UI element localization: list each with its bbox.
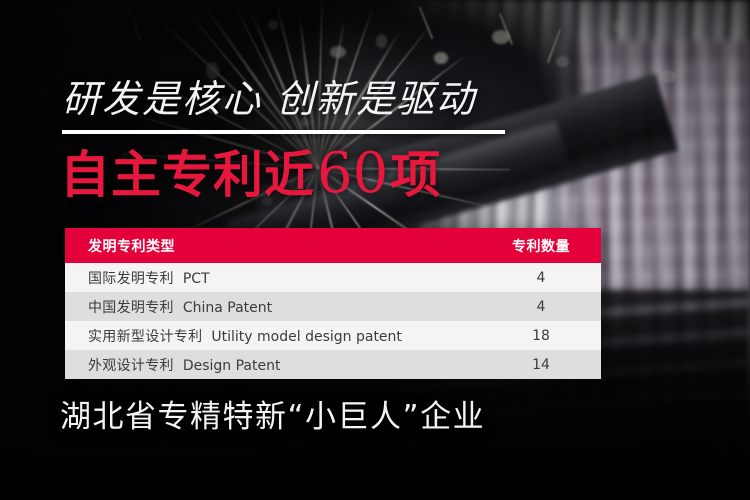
subheadline-prefix: 自主专利近: [60, 146, 315, 204]
table-row: 国际发明专利PCT 4: [65, 263, 601, 292]
cell-patent-count: 14: [481, 357, 601, 373]
cell-patent-type: 中国发明专利China Patent: [65, 297, 481, 317]
patent-table: 发明专利类型 专利数量 国际发明专利PCT 4 中国发明专利China Pate…: [65, 228, 601, 379]
column-header-count: 专利数量: [481, 236, 601, 256]
subheadline-number: 60: [315, 141, 390, 206]
cell-type-cn: 国际发明专利: [88, 271, 174, 287]
promotional-banner: 研发是核心 创新是驱动 自主专利近60项 发明专利类型 专利数量 国际发明专利P…: [0, 0, 750, 500]
cell-type-en: China Patent: [174, 300, 272, 316]
cell-patent-count: 18: [481, 328, 601, 344]
headline-divider: [62, 130, 505, 134]
cell-patent-type: 国际发明专利PCT: [65, 268, 481, 288]
cell-type-cn: 外观设计专利: [88, 358, 174, 374]
table-row: 实用新型设计专利Utility model design patent 18: [65, 321, 601, 350]
cell-type-cn: 实用新型设计专利: [88, 329, 202, 345]
banner-content: 研发是核心 创新是驱动 自主专利近60项 发明专利类型 专利数量 国际发明专利P…: [0, 0, 750, 500]
headline-text: 研发是核心 创新是驱动: [62, 80, 476, 118]
subheadline-suffix: 项: [390, 146, 441, 204]
subheadline-text: 自主专利近60项: [60, 145, 441, 204]
cell-patent-type: 实用新型设计专利Utility model design patent: [65, 326, 481, 346]
cell-patent-count: 4: [481, 270, 601, 286]
column-header-type: 发明专利类型: [65, 236, 481, 256]
table-row: 外观设计专利Design Patent 14: [65, 350, 601, 379]
cell-type-en: PCT: [174, 271, 210, 287]
table-header-row: 发明专利类型 专利数量: [65, 228, 601, 263]
cell-type-en: Utility model design patent: [202, 329, 402, 345]
cell-patent-count: 4: [481, 299, 601, 315]
cell-type-en: Design Patent: [174, 358, 281, 374]
footer-text: 湖北省专精特新“小巨人”企业: [60, 402, 485, 433]
cell-type-cn: 中国发明专利: [88, 300, 174, 316]
table-row: 中国发明专利China Patent 4: [65, 292, 601, 321]
cell-patent-type: 外观设计专利Design Patent: [65, 355, 481, 375]
